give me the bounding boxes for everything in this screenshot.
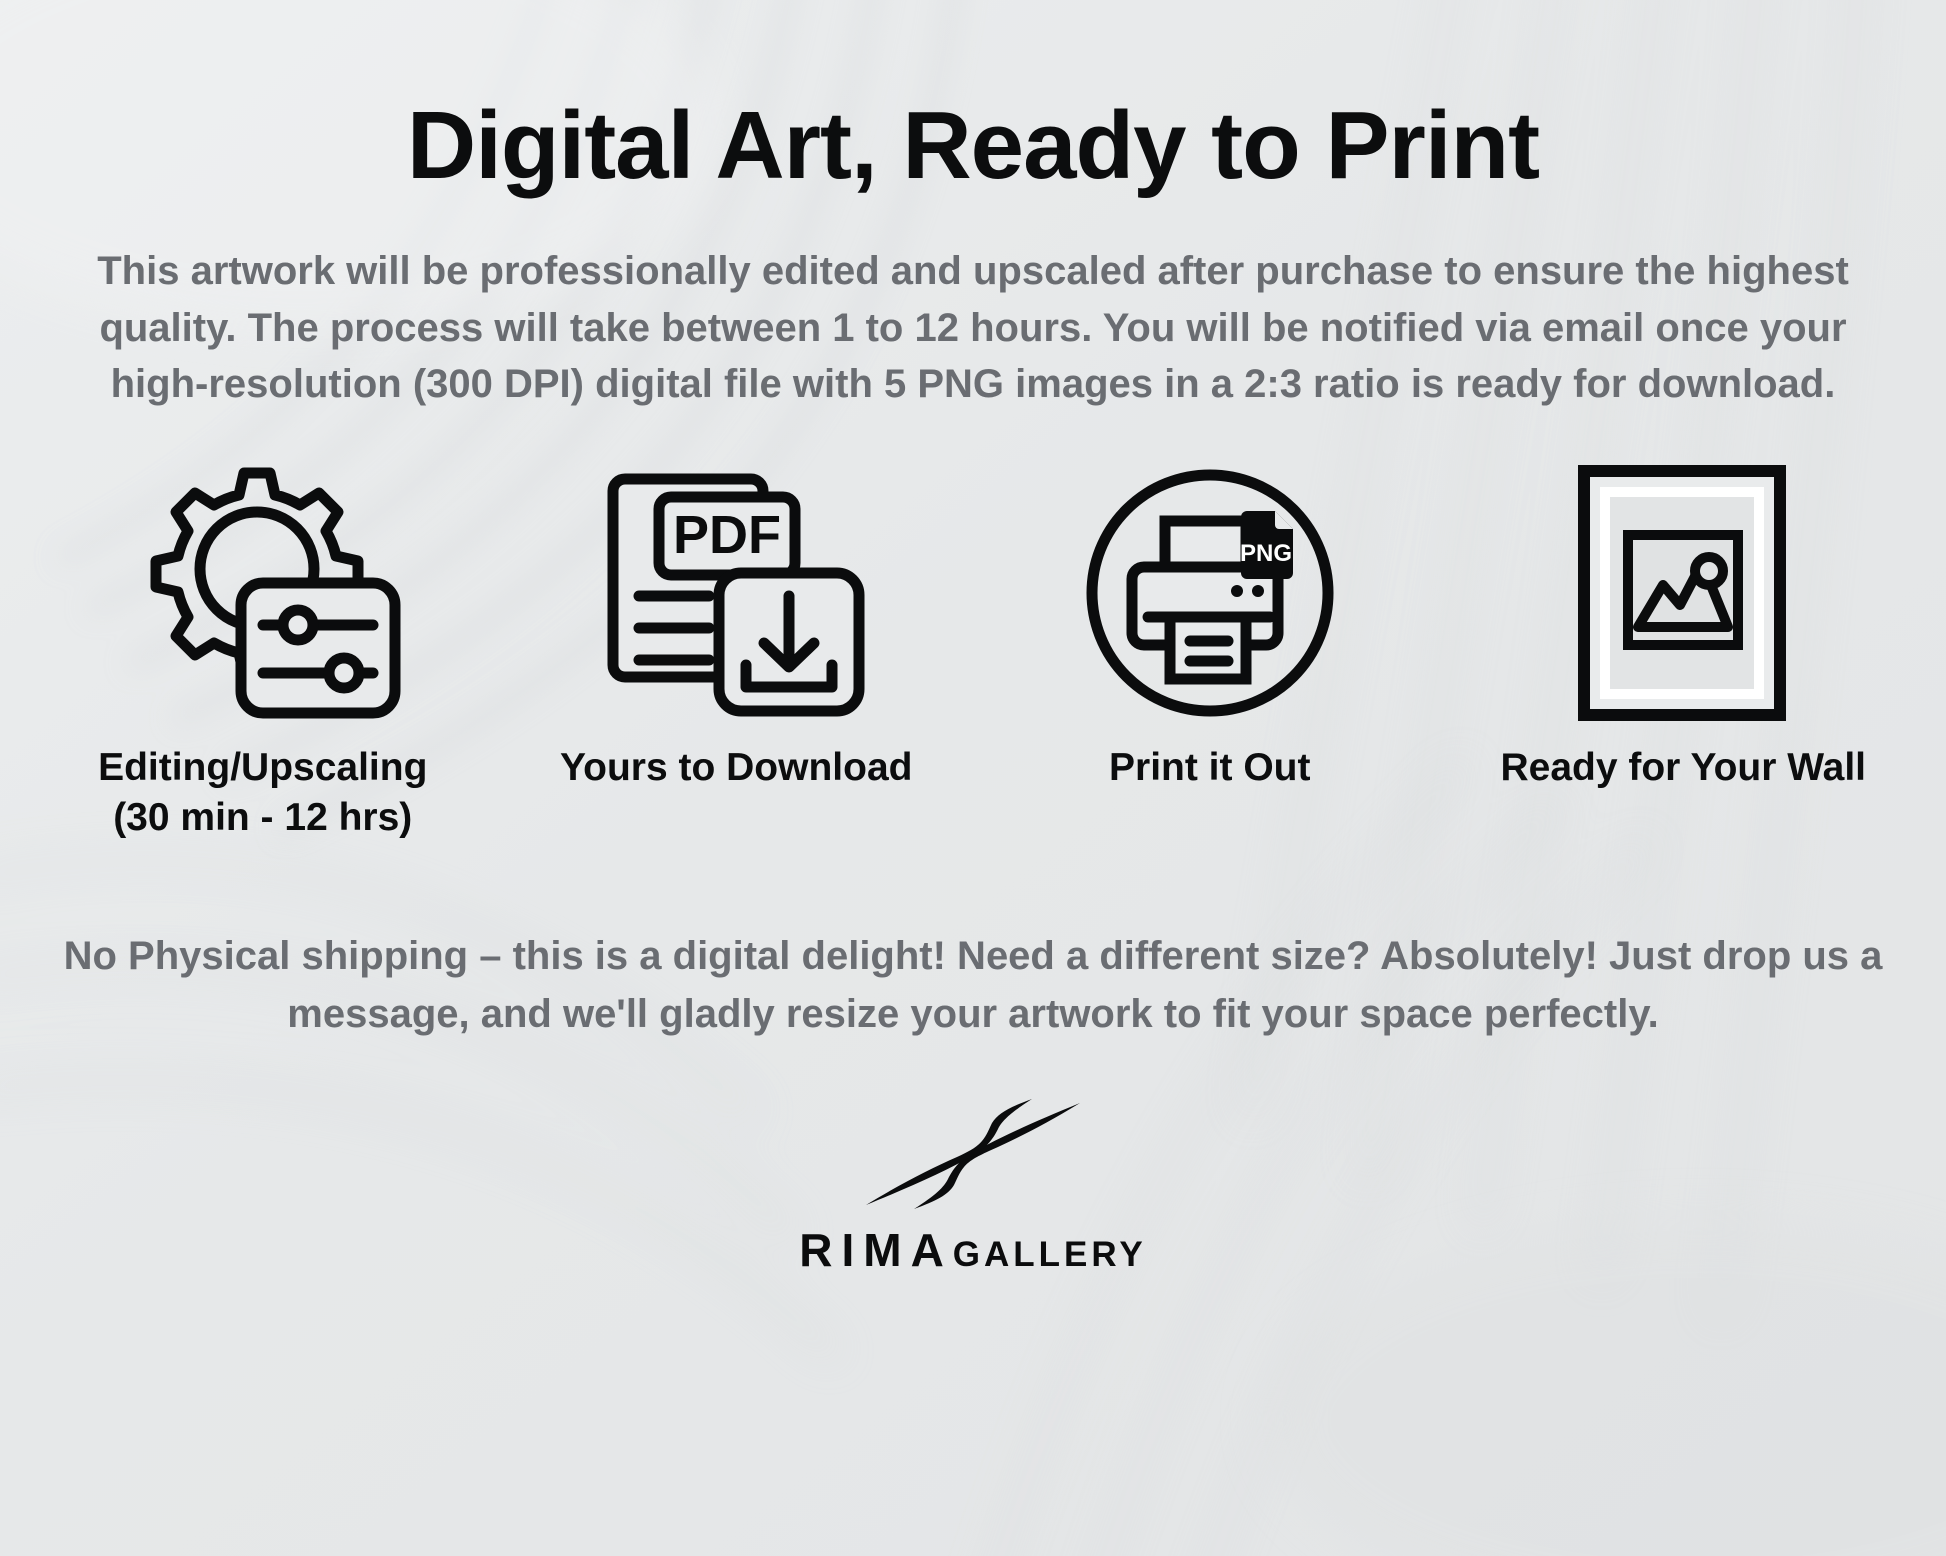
- logo-wordmark: RIMA GALLERY: [799, 1223, 1146, 1277]
- feature-label-wall: Ready for Your Wall: [1500, 743, 1866, 793]
- png-badge-text: PNG: [1240, 540, 1292, 567]
- feature-item-print: PNG Print it Out: [973, 455, 1447, 843]
- feature-row: Editing/Upscaling (30 min - 12 hrs) PDF: [0, 455, 1946, 843]
- logo-name-primary: RIMA: [799, 1223, 953, 1277]
- brand-logo: RIMA GALLERY: [0, 1099, 1946, 1277]
- pdf-badge-text: PDF: [673, 505, 781, 565]
- pdf-download-icon: PDF: [601, 455, 871, 721]
- feature-item-editing: Editing/Upscaling (30 min - 12 hrs): [26, 455, 500, 843]
- intro-paragraph: This artwork will be professionally edit…: [53, 243, 1893, 413]
- feature-item-wall: Ready for Your Wall: [1447, 455, 1921, 843]
- feature-item-download: PDF Yours to Download: [500, 455, 974, 843]
- page-title: Digital Art, Ready to Print: [0, 0, 1946, 197]
- feature-label-print: Print it Out: [1109, 743, 1310, 793]
- closing-paragraph: No Physical shipping – this is a digital…: [53, 927, 1893, 1043]
- promo-graphic: Digital Art, Ready to Print This artwork…: [0, 0, 1946, 1556]
- framed-picture-icon: [1576, 455, 1790, 721]
- gear-sliders-icon: [123, 455, 403, 721]
- logo-name-secondary: GALLERY: [953, 1235, 1147, 1275]
- feature-label-download: Yours to Download: [560, 743, 912, 793]
- rima-swoosh-icon: [858, 1099, 1088, 1217]
- feature-label-editing: Editing/Upscaling (30 min - 12 hrs): [98, 743, 427, 843]
- printer-circle-icon: PNG: [1082, 455, 1338, 721]
